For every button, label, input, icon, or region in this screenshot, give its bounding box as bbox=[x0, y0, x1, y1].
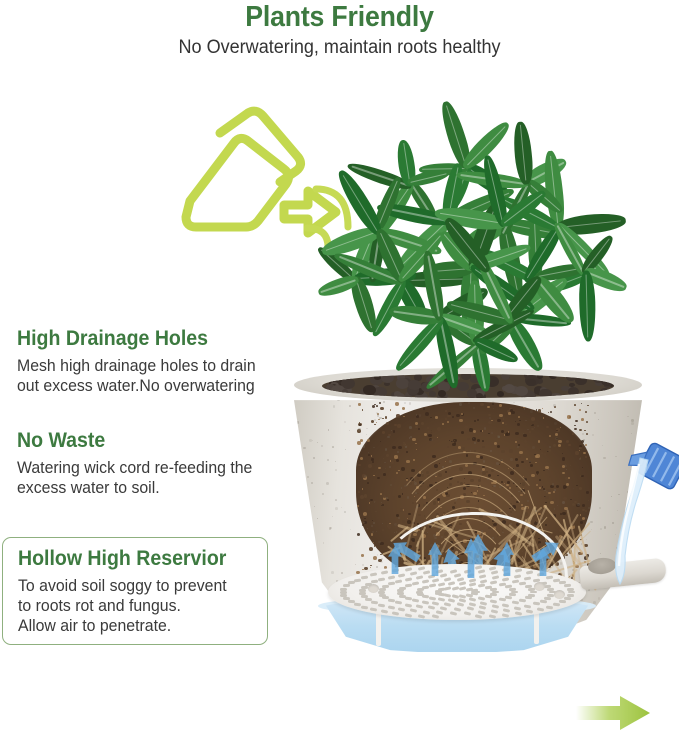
drainage-hole bbox=[450, 611, 457, 615]
pot-speckle bbox=[614, 626, 616, 628]
soil-grain bbox=[543, 470, 545, 472]
drainage-hole bbox=[491, 605, 498, 609]
soil-grain bbox=[428, 434, 431, 437]
soil-grain bbox=[562, 453, 563, 454]
soil-grain bbox=[357, 441, 361, 444]
soil-grain bbox=[390, 409, 392, 411]
soil-grain bbox=[374, 424, 375, 425]
lava-rock bbox=[429, 391, 436, 397]
pot-speckle bbox=[516, 553, 519, 556]
drainage-hole bbox=[453, 607, 460, 611]
drainage-hole bbox=[388, 599, 395, 602]
pot-speckle bbox=[349, 430, 350, 431]
pot-speckle bbox=[642, 629, 643, 630]
soil-grain bbox=[462, 447, 465, 450]
pot-speckle bbox=[300, 574, 302, 576]
soil-grain bbox=[508, 412, 511, 414]
soil-grain bbox=[487, 406, 489, 408]
drainage-hole bbox=[464, 611, 471, 615]
drainage-hole bbox=[412, 581, 419, 585]
soil-grain bbox=[542, 408, 543, 409]
pot-speckle bbox=[333, 405, 336, 408]
soil-grain bbox=[437, 437, 438, 438]
lava-rock bbox=[497, 391, 504, 397]
drainage-hole bbox=[466, 606, 473, 610]
pot-speckle bbox=[594, 412, 596, 414]
soil-grain bbox=[585, 444, 587, 446]
drainage-hole bbox=[382, 585, 389, 588]
pot-speckle bbox=[484, 427, 486, 429]
drainage-hole bbox=[502, 613, 509, 617]
drainage-hole bbox=[421, 580, 428, 584]
soil-grain bbox=[392, 446, 396, 450]
pot-speckle bbox=[527, 500, 529, 502]
soil-grain bbox=[358, 403, 361, 405]
pot-speckle bbox=[355, 564, 356, 565]
soil-grain bbox=[380, 493, 382, 495]
pot-speckle bbox=[600, 528, 602, 530]
soil-grain bbox=[379, 402, 381, 404]
soil-grain bbox=[432, 455, 435, 458]
pot-speckle bbox=[571, 576, 572, 577]
drainage-hole bbox=[432, 578, 439, 582]
drainage-hole bbox=[505, 596, 512, 599]
lava-rock bbox=[549, 374, 557, 379]
drainage-hole bbox=[343, 597, 350, 600]
drainage-hole bbox=[405, 584, 412, 587]
pot-speckle bbox=[513, 402, 515, 404]
pot-speckle bbox=[599, 507, 601, 509]
soil-grain bbox=[369, 502, 371, 503]
soil-grain bbox=[464, 426, 468, 429]
soil-grain bbox=[555, 433, 558, 436]
drainage-hole bbox=[499, 598, 506, 602]
drainage-hole bbox=[361, 605, 368, 609]
soil-grain bbox=[377, 477, 379, 479]
drainage-hole bbox=[489, 614, 496, 618]
pot-speckle bbox=[586, 539, 587, 540]
soil-grain bbox=[449, 440, 450, 441]
pot-speckle bbox=[307, 608, 310, 611]
soil-grain bbox=[574, 425, 575, 426]
drainage-hole bbox=[416, 591, 423, 594]
pot-speckle bbox=[314, 563, 315, 564]
pot-speckle bbox=[361, 399, 363, 401]
pot-speckle bbox=[311, 482, 313, 484]
soil-grain bbox=[406, 479, 408, 481]
soil-grain bbox=[543, 417, 545, 418]
drainage-hole bbox=[444, 602, 451, 606]
drainage-hole bbox=[514, 574, 521, 578]
drainage-hole bbox=[491, 575, 498, 579]
soil-grain bbox=[385, 416, 388, 418]
drainage-hole bbox=[514, 611, 521, 615]
soil-grain bbox=[519, 420, 521, 422]
soil-grain bbox=[568, 444, 570, 446]
soil-grain bbox=[396, 459, 399, 462]
drainage-hole bbox=[524, 604, 531, 608]
soil-grain bbox=[368, 464, 372, 468]
pot-speckle bbox=[314, 506, 315, 507]
soil-grain bbox=[566, 440, 569, 443]
pot-speckle bbox=[609, 635, 610, 636]
lava-rock bbox=[381, 374, 394, 383]
soil-grain bbox=[445, 410, 447, 412]
lava-rock bbox=[394, 391, 401, 396]
soil-grain bbox=[538, 440, 541, 442]
pot-speckle bbox=[577, 503, 580, 506]
drainage-hole bbox=[469, 578, 476, 582]
soil-grain bbox=[415, 422, 418, 425]
drainage-hole bbox=[388, 582, 395, 585]
drainage-hole bbox=[371, 601, 378, 604]
drainage-hole bbox=[418, 614, 425, 618]
soil-grain bbox=[415, 443, 417, 445]
soil-grain bbox=[398, 446, 401, 449]
soil-grain bbox=[376, 422, 377, 423]
drainage-hole bbox=[489, 566, 496, 570]
feature-heading: Hollow High Reservior bbox=[18, 546, 247, 571]
pot-speckle bbox=[427, 532, 428, 533]
drainage-hole bbox=[533, 602, 540, 606]
soil-grain bbox=[361, 554, 364, 556]
soil-grain bbox=[582, 467, 583, 468]
pot-speckle bbox=[409, 426, 412, 429]
soil-grain bbox=[521, 461, 523, 463]
pot-speckle bbox=[335, 499, 337, 501]
drainage-hole bbox=[485, 595, 492, 598]
soil-grain bbox=[548, 492, 551, 495]
soil-grain bbox=[411, 469, 415, 473]
pot-speckle bbox=[578, 553, 580, 555]
pot-speckle bbox=[555, 437, 558, 440]
pot-speckle bbox=[318, 396, 320, 398]
soil-grain bbox=[403, 416, 405, 418]
pot-speckle bbox=[552, 483, 555, 486]
soil-grain bbox=[360, 457, 363, 460]
pot-speckle bbox=[537, 425, 539, 427]
soil-grain bbox=[423, 408, 426, 410]
drainage-hole bbox=[395, 579, 402, 583]
pot-speckle bbox=[374, 419, 376, 421]
pot-speckle bbox=[572, 569, 574, 571]
lava-rock bbox=[526, 379, 535, 386]
pot-speckle bbox=[627, 416, 628, 417]
soil-grain bbox=[398, 470, 400, 472]
pot-speckle bbox=[532, 446, 535, 449]
pot-speckle bbox=[602, 445, 603, 446]
soil-grain bbox=[553, 444, 556, 447]
drainage-hole bbox=[469, 602, 476, 606]
soil-grain bbox=[393, 430, 395, 432]
drainage-hole bbox=[526, 609, 533, 613]
soil-grain bbox=[480, 403, 483, 406]
pot-speckle bbox=[491, 432, 493, 434]
soil-grain bbox=[585, 510, 587, 512]
pot-speckle bbox=[317, 518, 318, 519]
page-subtitle: No Overwatering, maintain roots healthy bbox=[17, 36, 662, 60]
soil-grain bbox=[456, 414, 460, 417]
soil-grain bbox=[529, 431, 532, 433]
feature-body-line: out excess water.No overwatering bbox=[17, 376, 276, 396]
pot-speckle bbox=[326, 482, 329, 485]
drainage-hole bbox=[475, 615, 482, 619]
soil-grain bbox=[558, 440, 562, 444]
pot-speckle bbox=[522, 551, 523, 552]
soil-grain bbox=[391, 461, 394, 464]
soil-grain bbox=[515, 458, 518, 461]
drainage-hole bbox=[387, 575, 394, 579]
pot-speckle bbox=[487, 478, 489, 480]
soil-grain bbox=[539, 479, 541, 481]
pot-speckle bbox=[564, 465, 566, 467]
drainage-hole bbox=[524, 576, 531, 580]
drainage-hole bbox=[440, 606, 447, 610]
pot-speckle bbox=[493, 549, 494, 550]
feature-body-line: excess water to soil. bbox=[17, 478, 276, 498]
soil-grain bbox=[553, 491, 556, 493]
soil-grain bbox=[556, 485, 559, 488]
pot-speckle bbox=[496, 462, 499, 465]
soil-grain bbox=[442, 423, 444, 425]
soil-grain bbox=[546, 459, 548, 460]
lava-rock bbox=[501, 374, 510, 380]
drainage-hole bbox=[415, 605, 422, 609]
drainage-hole bbox=[479, 574, 486, 578]
soil-grain bbox=[499, 414, 503, 417]
soil-grain bbox=[430, 417, 431, 418]
soil-grain bbox=[370, 565, 372, 567]
drainage-hole bbox=[340, 587, 347, 590]
soil-grain bbox=[545, 502, 547, 503]
pot-speckle bbox=[383, 401, 385, 403]
pot-speckle bbox=[572, 522, 573, 523]
pot-speckle bbox=[317, 442, 318, 443]
soil-grain bbox=[394, 455, 398, 458]
feature-no-waste: No Waste Watering wick cord re-feeding t… bbox=[17, 428, 287, 498]
pot-speckle bbox=[330, 527, 332, 529]
pot-speckle bbox=[640, 589, 642, 591]
soil-grain bbox=[586, 421, 589, 423]
soil-grain bbox=[452, 443, 456, 446]
soil-grain bbox=[357, 533, 360, 536]
drainage-hole bbox=[480, 601, 487, 605]
soil-grain bbox=[383, 473, 386, 476]
drainage-hole bbox=[490, 609, 497, 613]
soil-grain bbox=[524, 440, 527, 443]
drainage-hole bbox=[361, 586, 368, 589]
drainage-hole bbox=[378, 603, 385, 607]
lava-rock bbox=[476, 393, 483, 398]
drainage-hole bbox=[359, 592, 366, 595]
soil-grain bbox=[586, 433, 589, 435]
soil-grain bbox=[374, 545, 375, 546]
pot-speckle bbox=[614, 622, 615, 623]
mesh-drainage-disc bbox=[328, 564, 586, 620]
drainage-hole bbox=[428, 584, 435, 588]
drainage-hole bbox=[490, 571, 497, 575]
drainage-hole bbox=[378, 591, 385, 594]
soil-grain bbox=[397, 424, 401, 427]
pot-speckle bbox=[378, 541, 380, 543]
pot-speckle bbox=[366, 428, 367, 429]
drainage-hole bbox=[361, 575, 368, 579]
pot-speckle bbox=[492, 537, 494, 539]
pot-speckle bbox=[328, 429, 330, 431]
drainage-hole bbox=[398, 573, 405, 577]
soil-grain bbox=[516, 464, 519, 467]
pot-speckle bbox=[557, 505, 558, 506]
feature-body-line: Mesh high drainage holes to drain bbox=[17, 356, 276, 376]
soil-grain bbox=[368, 454, 370, 456]
pot-speckle bbox=[297, 421, 300, 424]
drainage-hole bbox=[365, 598, 372, 601]
drainage-hole bbox=[479, 606, 486, 610]
lava-rock bbox=[575, 376, 587, 385]
drainage-hole bbox=[469, 598, 476, 602]
soil-grain bbox=[370, 499, 372, 501]
soil-grain bbox=[537, 474, 538, 475]
drainage-hole bbox=[432, 615, 439, 619]
pot-speckle bbox=[350, 529, 351, 530]
soil-grain bbox=[531, 417, 535, 421]
soil-grain bbox=[474, 420, 476, 422]
soil-grain bbox=[515, 441, 517, 443]
drainage-hole bbox=[432, 602, 439, 606]
soil-grain bbox=[480, 430, 482, 432]
drainage-hole bbox=[340, 591, 347, 594]
soil-grain bbox=[445, 418, 448, 420]
soil-grain bbox=[488, 421, 492, 424]
pot-speckle bbox=[345, 449, 346, 450]
soil-grain bbox=[565, 486, 567, 488]
soil-grain bbox=[395, 402, 399, 405]
soil-grain bbox=[378, 467, 381, 470]
soil-grain bbox=[380, 407, 384, 411]
drainage-hole bbox=[456, 602, 463, 606]
drainage-hole bbox=[546, 605, 553, 609]
drainage-hole bbox=[530, 591, 537, 594]
soil-grain bbox=[585, 411, 588, 413]
soil-grain bbox=[372, 461, 374, 463]
feature-high-drainage-holes: High Drainage Holes Mesh high drainage h… bbox=[17, 326, 287, 396]
soil-grain bbox=[371, 455, 372, 456]
drainage-hole bbox=[514, 569, 521, 573]
pot-speckle bbox=[579, 447, 580, 448]
soil-grain bbox=[572, 503, 575, 506]
drainage-hole bbox=[546, 575, 553, 579]
drainage-hole bbox=[503, 608, 510, 612]
soil-grain bbox=[558, 444, 561, 447]
pot-speckle bbox=[335, 461, 336, 462]
pot-speckle bbox=[409, 402, 412, 405]
soil-grain bbox=[581, 403, 582, 404]
drainage-hole bbox=[418, 566, 425, 570]
pot-speckle bbox=[297, 607, 298, 608]
soil-grain bbox=[482, 446, 485, 449]
soil-grain bbox=[370, 567, 371, 568]
pot-speckle bbox=[431, 489, 432, 490]
soil-grain bbox=[373, 542, 374, 543]
soil-grain bbox=[576, 485, 578, 486]
pot-speckle bbox=[499, 486, 502, 489]
soil-grain bbox=[538, 409, 542, 412]
drainage-hole bbox=[539, 599, 546, 602]
pot-speckle bbox=[341, 507, 343, 509]
soil-grain bbox=[396, 414, 400, 417]
drainage-hole bbox=[370, 607, 377, 611]
soil-grain bbox=[413, 459, 415, 460]
soil-grain bbox=[575, 451, 578, 454]
drainage-hole bbox=[415, 575, 422, 579]
lava-rock bbox=[342, 389, 348, 394]
pot-speckle bbox=[553, 404, 556, 407]
soil-grain bbox=[536, 471, 539, 474]
soil-grain bbox=[501, 430, 504, 433]
soil-grain bbox=[390, 460, 392, 461]
drainage-hole bbox=[423, 610, 430, 614]
feature-body-line: to roots rot and fungus. bbox=[18, 596, 254, 616]
pot-speckle bbox=[410, 436, 412, 438]
drainage-hole bbox=[451, 594, 458, 598]
pot-speckle bbox=[548, 469, 549, 470]
pot-speckle bbox=[592, 434, 594, 436]
drainage-hole bbox=[381, 571, 388, 575]
pot-speckle bbox=[600, 553, 601, 554]
soil-grain bbox=[523, 434, 526, 437]
soil-grain bbox=[584, 430, 586, 431]
pot-speckle bbox=[493, 485, 495, 487]
drainage-hole bbox=[392, 611, 399, 615]
soil-grain bbox=[580, 514, 581, 515]
soil-grain bbox=[562, 457, 566, 460]
soil-grain bbox=[362, 409, 364, 410]
pot-speckle bbox=[510, 458, 513, 461]
pot-speckle bbox=[473, 407, 474, 408]
soil-grain bbox=[574, 428, 577, 430]
drainage-hole bbox=[436, 611, 443, 615]
soil-grain bbox=[387, 499, 389, 501]
drainage-hole bbox=[459, 582, 466, 586]
pot-speckle bbox=[554, 422, 557, 425]
pot-speckle bbox=[332, 446, 334, 448]
drainage-hole bbox=[410, 571, 417, 575]
lava-rock bbox=[408, 380, 421, 390]
page-title: Plants Friendly bbox=[27, 0, 652, 34]
soil-grain bbox=[580, 521, 583, 524]
green-right-arrow-icon bbox=[576, 695, 650, 731]
pot-speckle bbox=[481, 530, 483, 532]
lava-rock bbox=[323, 374, 332, 381]
lava-rock bbox=[584, 390, 595, 398]
soil-grain bbox=[435, 416, 438, 418]
soil-grain bbox=[382, 431, 385, 434]
drainage-hole bbox=[381, 609, 388, 613]
soil-grain bbox=[497, 419, 501, 422]
drainage-hole bbox=[440, 573, 447, 577]
soil-grain bbox=[541, 452, 542, 453]
soil-grain bbox=[363, 512, 367, 516]
pot-speckle bbox=[476, 555, 479, 558]
drainage-hole bbox=[451, 586, 458, 590]
drainage-hole bbox=[512, 579, 519, 583]
soil-grain bbox=[425, 412, 429, 416]
drainage-hole bbox=[444, 586, 451, 590]
drainage-hole bbox=[544, 597, 551, 600]
drainage-hole bbox=[448, 598, 455, 602]
soil-grain bbox=[582, 504, 585, 507]
drainage-hole bbox=[477, 570, 484, 574]
